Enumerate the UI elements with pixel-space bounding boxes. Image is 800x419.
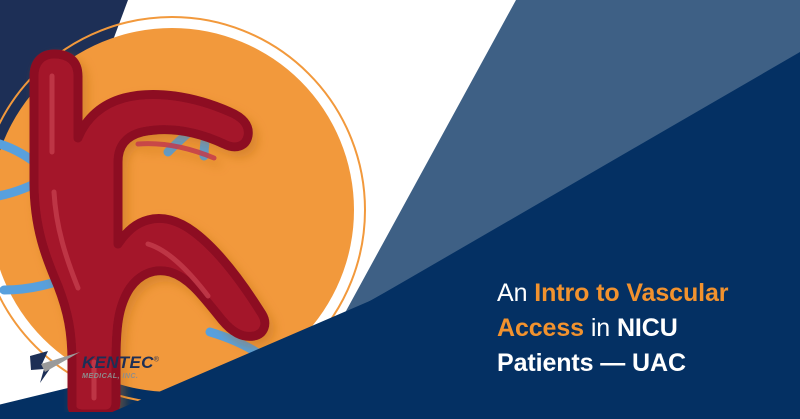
logo-wordmark: KENTEC® MEDICAL, INC. [82,354,159,379]
kentec-medical-logo[interactable]: KENTEC® MEDICAL, INC. [28,344,150,390]
blog-banner: KENTEC® MEDICAL, INC. An Intro to Vascul… [0,0,800,419]
logo-tagline-text: MEDICAL, INC. [82,372,138,379]
title-line3-bold: Patients — UAC [497,349,686,377]
title-line2-accent: Access [497,314,584,342]
title-line2-plain: in [584,314,617,342]
logo-name-text: KENTEC® [82,354,159,371]
title-line-2: Access in NICU [497,311,787,346]
page-title: An Intro to Vascular Access in NICU Pati… [497,276,787,381]
registered-trademark-icon: ® [154,357,159,364]
title-line2-bold: NICU [617,314,678,342]
title-line1-plain: An [497,279,534,307]
title-line-1: An Intro to Vascular [497,276,787,311]
arrow-swoosh-icon [28,350,80,384]
title-line-3: Patients — UAC [497,346,787,381]
logo-name-label: KENTEC [82,353,154,372]
title-line1-accent: Intro to Vascular [534,279,728,307]
